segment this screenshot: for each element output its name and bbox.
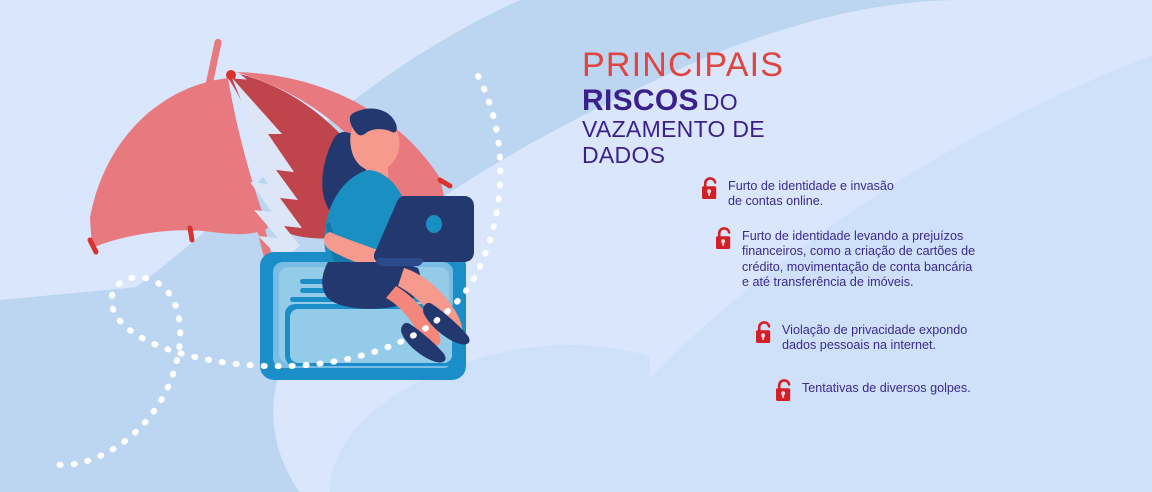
open-padlock-icon: [700, 177, 720, 201]
risk-text: Tentativas de diversos golpes.: [802, 378, 971, 396]
open-padlock-icon: [774, 379, 794, 403]
risk-text: Furto de identidade levando a prejuízos …: [742, 226, 975, 291]
risk-text: Violação de privacidade expondo dados pe…: [782, 320, 967, 354]
umbrella-panel-left: [90, 78, 268, 248]
risk-text: Furto de identidade e invasão de contas …: [728, 176, 894, 210]
headline-riscos-line: RISCOSDO: [582, 86, 1002, 117]
headline-principais: PRINCIPAIS: [582, 48, 1002, 83]
infographic-banner: PRINCIPAIS RISCOSDO VAZAMENTO DE DADOS F…: [0, 0, 1152, 492]
open-padlock-icon: [754, 321, 774, 345]
risk-item: Furto de identidade e invasão de contas …: [700, 176, 894, 210]
umbrella-knob-icon: [226, 70, 236, 80]
headline-do: DO: [699, 89, 738, 115]
risk-item: Furto de identidade levando a prejuízos …: [714, 226, 975, 291]
headline-riscos: RISCOS: [582, 84, 699, 117]
risk-item: Tentativas de diversos golpes.: [774, 378, 971, 403]
umbrella-tip-mid: [190, 228, 192, 240]
headline-block: PRINCIPAIS RISCOSDO VAZAMENTO DE DADOS: [582, 48, 1002, 167]
open-padlock-icon: [714, 227, 734, 251]
headline-vazamento: VAZAMENTO DE: [582, 118, 1002, 141]
headline-dados: DADOS: [582, 144, 1002, 167]
risk-item: Violação de privacidade expondo dados pe…: [754, 320, 967, 354]
